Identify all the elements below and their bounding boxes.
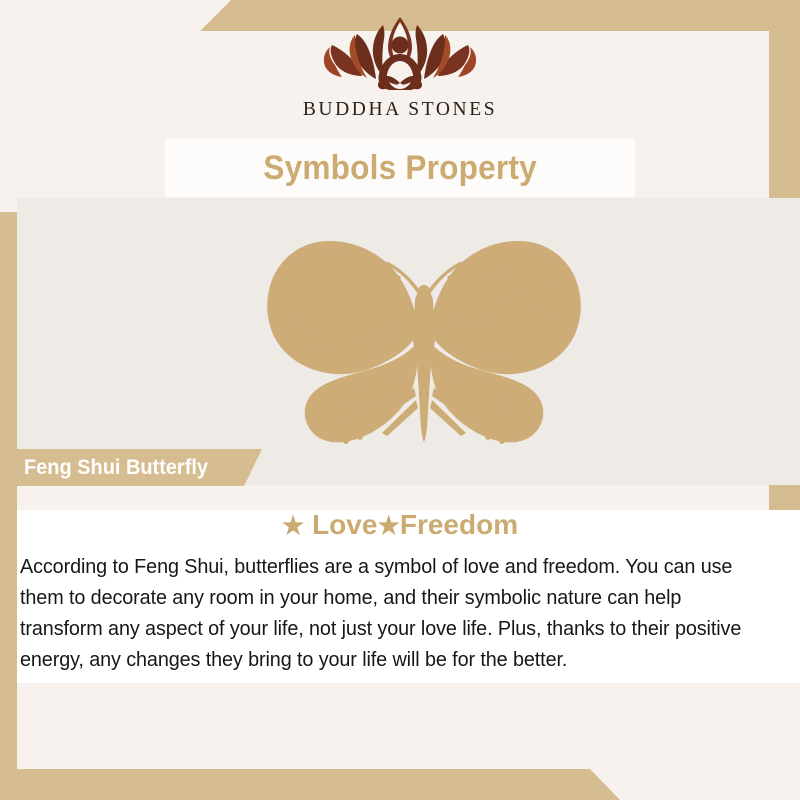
infographic-page: BUDDHA STONES Symbols Property <box>0 0 800 800</box>
star-icon-middle: ★ <box>377 512 399 540</box>
subheading: ★ Love★Freedom <box>0 509 800 541</box>
feng-shui-banner: Feng Shui Butterfly <box>0 449 262 486</box>
title-strip: Symbols Property <box>165 139 635 197</box>
butterfly-icon <box>238 234 610 444</box>
body-paragraph: According to Feng Shui, butterflies are … <box>20 552 761 676</box>
frame-band-bottom <box>0 769 620 800</box>
page-title: Symbols Property <box>263 149 537 188</box>
lotus-meditation-figure-icon <box>309 14 491 96</box>
brand-logo-block: BUDDHA STONES <box>0 0 800 139</box>
star-icon-left: ★ <box>282 512 304 540</box>
brand-wordmark: BUDDHA STONES <box>303 99 497 121</box>
subheading-word-one: Love <box>312 509 377 540</box>
hero-panel <box>17 198 800 485</box>
banner-label: Feng Shui Butterfly <box>24 456 208 480</box>
frame-band-left <box>0 212 17 800</box>
subheading-word-two: Freedom <box>400 509 518 540</box>
